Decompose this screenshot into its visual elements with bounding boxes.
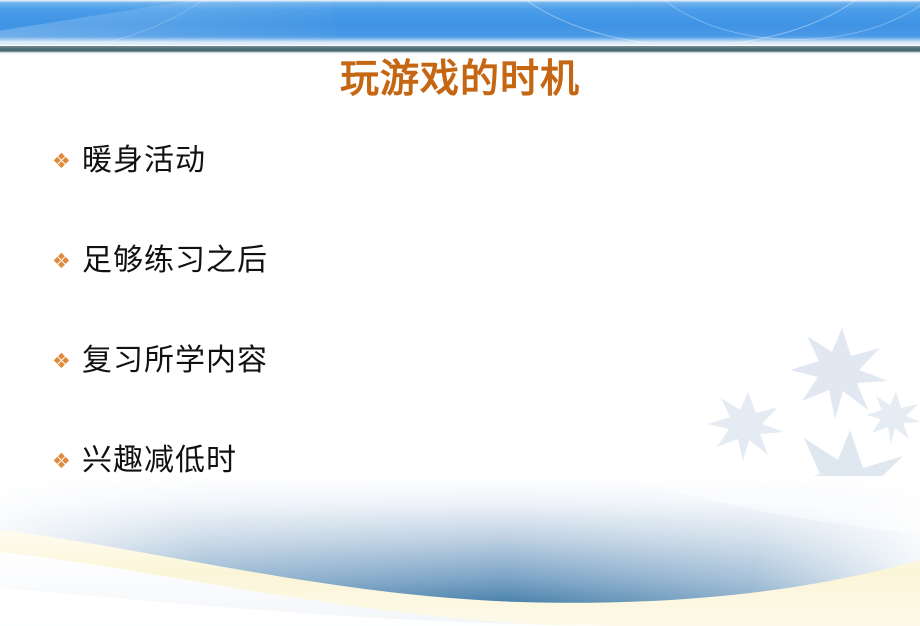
banner-lowlight <box>0 36 920 43</box>
list-item: ❖ 复习所学内容 <box>52 340 752 440</box>
slide-top-banner <box>0 0 920 43</box>
bullet-label: 暖身活动 <box>82 140 206 182</box>
slide-bottom-wave <box>0 476 920 626</box>
bullet-label: 复习所学内容 <box>82 340 268 382</box>
presentation-slide: 玩游戏的时机 ❖ 暖身活动 ❖ 足够练习之后 <box>0 0 920 626</box>
bullet-diamond-icon: ❖ <box>52 140 82 182</box>
bullet-diamond-icon: ❖ <box>52 340 82 382</box>
wave-graphic <box>0 476 920 626</box>
banner-rule-shadow <box>0 52 920 54</box>
list-item: ❖ 足够练习之后 <box>52 240 752 340</box>
list-item: ❖ 暖身活动 <box>52 140 752 240</box>
bullet-diamond-icon: ❖ <box>52 240 82 282</box>
slide-title: 玩游戏的时机 <box>0 57 920 103</box>
bullet-label: 足够练习之后 <box>82 240 268 282</box>
